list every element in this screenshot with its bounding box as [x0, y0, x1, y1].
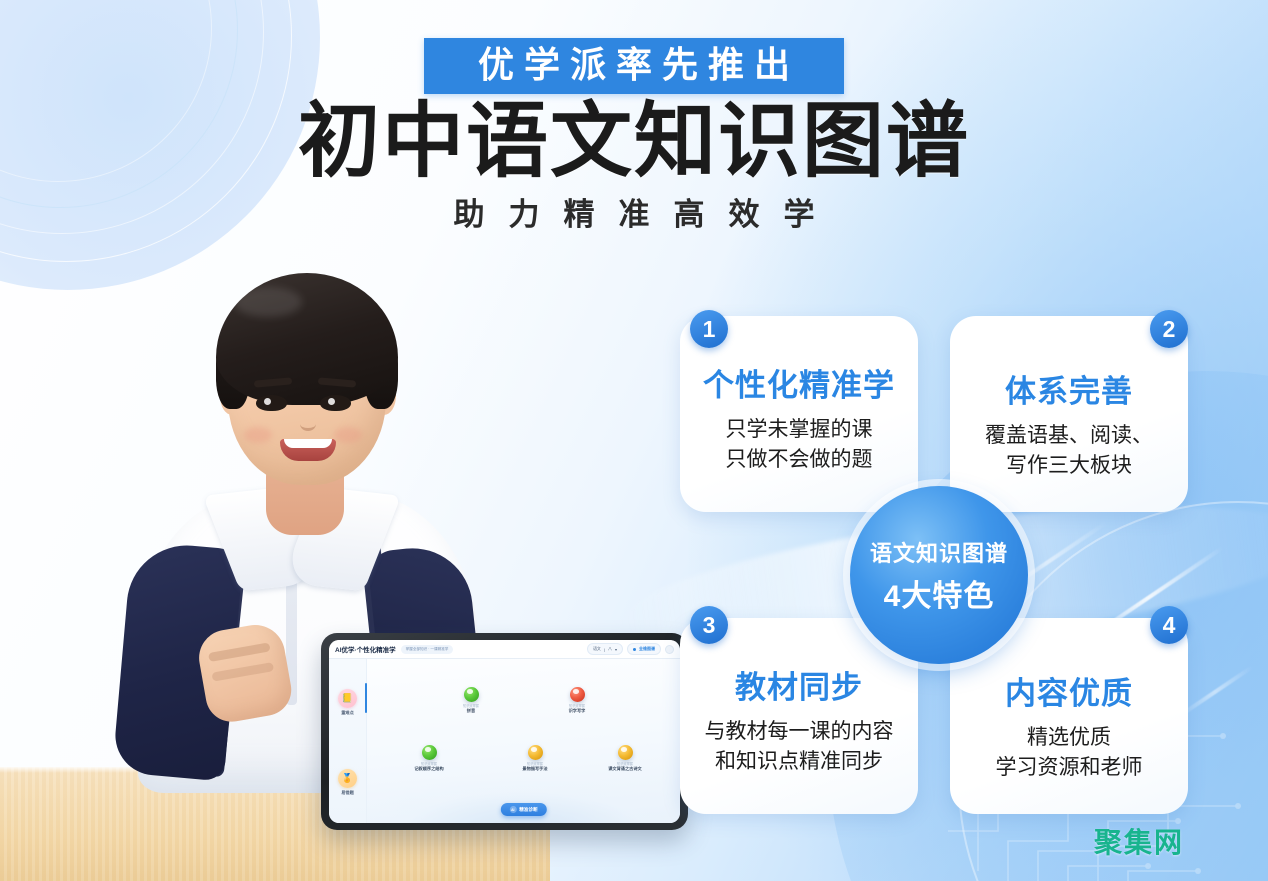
- node-sphere-amber: [618, 745, 633, 760]
- graph-mode-button[interactable]: 全维图谱: [627, 643, 661, 655]
- feature-badge-3: 3: [690, 606, 728, 644]
- feature-badge-4: 4: [1150, 606, 1188, 644]
- tablet-screen: AI优学·个性化精准学 掌握全部知识 · 一课精准学 语文 | 八 ▾ 全维图谱: [329, 640, 680, 823]
- feature-title: 教材同步: [680, 662, 918, 707]
- promotional-poster: 优学派率先推出 初中语文知识图谱 助力精准高效学: [0, 0, 1268, 881]
- watermark-logo: 聚集网: [1094, 821, 1184, 861]
- sidebar-item-label: 易错题: [329, 790, 366, 796]
- node-sphere-amber: [528, 745, 543, 760]
- node-label: 景物描写手法: [508, 766, 562, 771]
- feature-desc-line1: 精选优质: [950, 723, 1188, 753]
- feature-cards-group: 个性化精准学 只学未掌握的课 只做不会做的题 体系完善 覆盖语基、阅读、 写作三…: [660, 300, 1220, 830]
- chevron-down-icon: ▾: [615, 647, 617, 652]
- node-sphere-green: [464, 687, 479, 702]
- subject-grade-selector[interactable]: 语文 | 八 ▾: [587, 643, 623, 655]
- header-banner: 优学派率先推出: [424, 38, 844, 94]
- ai-icon: AI: [509, 806, 516, 813]
- feature-badge-2: 2: [1150, 310, 1188, 348]
- feature-desc-line2: 写作三大板块: [950, 451, 1188, 481]
- app-topbar: AI优学·个性化精准学 掌握全部知识 · 一课精准学 语文 | 八 ▾ 全维图谱: [329, 640, 680, 659]
- grade-value: 八: [608, 646, 612, 652]
- center-hub-circle: 语文知识图谱 4大特色: [850, 486, 1028, 664]
- feature-desc-line1: 只学未掌握的课: [680, 415, 918, 445]
- knowledge-graph-canvas[interactable]: 知识点掌握 拼音 知识点掌握 识字写字 知识点掌握 记叙顺序之结构 知识点掌握: [367, 659, 680, 823]
- node-label: 课文背诵之古诗文: [598, 766, 652, 771]
- feature-title: 内容优质: [950, 668, 1188, 713]
- feature-card-2[interactable]: 体系完善 覆盖语基、阅读、 写作三大板块: [950, 316, 1188, 512]
- center-hub-line1: 语文知识图谱: [870, 536, 1008, 568]
- node-label: 记叙顺序之结构: [402, 766, 456, 771]
- nose: [300, 417, 316, 431]
- smiling-mouth: [280, 439, 336, 461]
- feature-desc-line2: 学习资源和老师: [950, 753, 1188, 783]
- node-label: 识字写字: [550, 708, 604, 713]
- feature-title: 个性化精准学: [680, 360, 918, 405]
- eye-left: [256, 395, 287, 411]
- tablet-device: AI优学·个性化精准学 掌握全部知识 · 一课精准学 语文 | 八 ▾ 全维图谱: [321, 633, 688, 830]
- feature-desc-line1: 覆盖语基、阅读、: [950, 421, 1188, 451]
- app-brand-title: AI优学·个性化精准学: [335, 644, 396, 654]
- node-label: 拼音: [444, 708, 498, 713]
- app-sidebar: 📒 重难点 🏅 易错题: [329, 659, 367, 823]
- node-sphere-red: [570, 687, 585, 702]
- cheek-left: [244, 427, 272, 443]
- notebook-icon: 📒: [338, 689, 357, 708]
- center-hub-line2: 4大特色: [884, 571, 995, 615]
- cta-label: 精准诊断: [519, 807, 537, 813]
- page-title: 初中语文知识图谱: [0, 98, 1268, 187]
- eye-right: [320, 395, 351, 411]
- sidebar-item-label: 重难点: [329, 710, 366, 716]
- graph-node[interactable]: 知识点掌握 景物描写手法: [508, 745, 562, 771]
- cheek-right: [334, 427, 362, 443]
- student-hair: [216, 273, 398, 405]
- separator: |: [604, 647, 605, 652]
- feature-desc-line1: 与教材每一课的内容: [680, 717, 918, 747]
- feature-card-3[interactable]: 教材同步 与教材每一课的内容 和知识点精准同步: [680, 618, 918, 814]
- subject-value: 语文: [593, 646, 601, 652]
- feature-title: 体系完善: [950, 366, 1188, 411]
- app-tagline-pill: 掌握全部知识 · 一课精准学: [401, 645, 454, 654]
- graph-node[interactable]: 知识点掌握 记叙顺序之结构: [402, 745, 456, 771]
- sidebar-item-key-points[interactable]: 📒 重难点: [329, 689, 366, 716]
- graph-node[interactable]: 知识点掌握 课文背诵之古诗文: [598, 745, 652, 771]
- star-medal-icon: 🏅: [338, 769, 357, 788]
- feature-desc-line2: 只做不会做的题: [680, 445, 918, 475]
- graph-node[interactable]: 知识点掌握 拼音: [444, 687, 498, 713]
- feature-badge-1: 1: [690, 310, 728, 348]
- feature-desc-line2: 和知识点精准同步: [680, 747, 918, 777]
- sidebar-item-error-questions[interactable]: 🏅 易错题: [329, 769, 366, 796]
- graph-mode-label: 全维图谱: [639, 646, 655, 652]
- graph-node[interactable]: 知识点掌握 识字写字: [550, 687, 604, 713]
- page-subtitle: 助力精准高效学: [0, 189, 1268, 234]
- book-illustration: [367, 781, 680, 823]
- precise-diagnosis-button[interactable]: AI 精准诊断: [500, 803, 546, 816]
- node-sphere-green: [422, 745, 437, 760]
- graph-icon: [633, 648, 636, 651]
- poster-header: 优学派率先推出 初中语文知识图谱 助力精准高效学: [0, 38, 1268, 234]
